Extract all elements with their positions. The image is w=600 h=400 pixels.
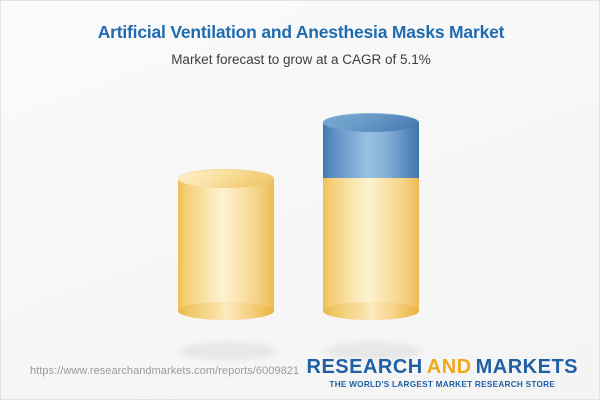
bar-cylinder-2030[interactable]: [323, 122, 419, 311]
logo-wordmark: RESEARCHANDMARKETS: [307, 357, 578, 378]
bar-segment-2030-base[interactable]: [323, 178, 419, 311]
segment-body: [323, 178, 419, 311]
research-and-markets-logo[interactable]: RESEARCHANDMARKETS THE WORLD'S LARGEST M…: [307, 357, 578, 390]
logo-word-and: AND: [423, 356, 476, 378]
logo-tagline: THE WORLD'S LARGEST MARKET RESEARCH STOR…: [307, 378, 578, 390]
segment-top-ellipse: [323, 113, 419, 132]
segment-foot: [323, 302, 419, 320]
chart-plot-area: USD 2.33 Billion 2023 USD 3.3 Billion: [1, 1, 600, 349]
segment-top-ellipse: [178, 169, 274, 188]
bar-segment-2023-base[interactable]: [178, 178, 274, 311]
chart-card: Artificial Ventilation and Anesthesia Ma…: [0, 0, 600, 400]
logo-word-research: RESEARCH: [307, 356, 423, 378]
logo-word-markets: MARKETS: [476, 356, 578, 378]
bar-segment-2030-growth[interactable]: [323, 122, 419, 178]
chart-footer: https://www.researchandmarkets.com/repor…: [2, 348, 600, 398]
source-url-link[interactable]: https://www.researchandmarkets.com/repor…: [30, 365, 299, 377]
segment-body: [178, 178, 274, 311]
segment-foot: [178, 302, 274, 320]
bar-cylinder-2023[interactable]: [178, 178, 274, 311]
